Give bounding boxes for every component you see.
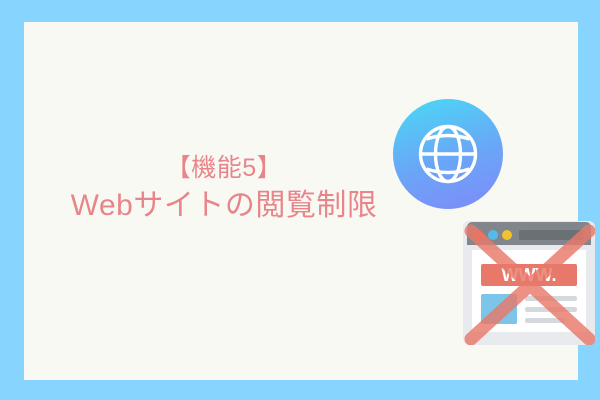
slide-canvas: 【機能5】 Webサイトの閲覧制限 — [0, 0, 600, 400]
window-dot-blue — [488, 230, 498, 240]
window-dot-yellow — [502, 230, 512, 240]
headline-line-2: Webサイトの閲覧制限 — [44, 187, 404, 225]
headline-line-1: 【機能5】 — [44, 152, 404, 184]
headline-block: 【機能5】 Webサイトの閲覧制限 — [44, 152, 404, 225]
content-card: 【機能5】 Webサイトの閲覧制限 — [24, 22, 578, 380]
blocked-website-icon: WWW. — [463, 221, 595, 345]
globe-icon — [393, 99, 503, 209]
